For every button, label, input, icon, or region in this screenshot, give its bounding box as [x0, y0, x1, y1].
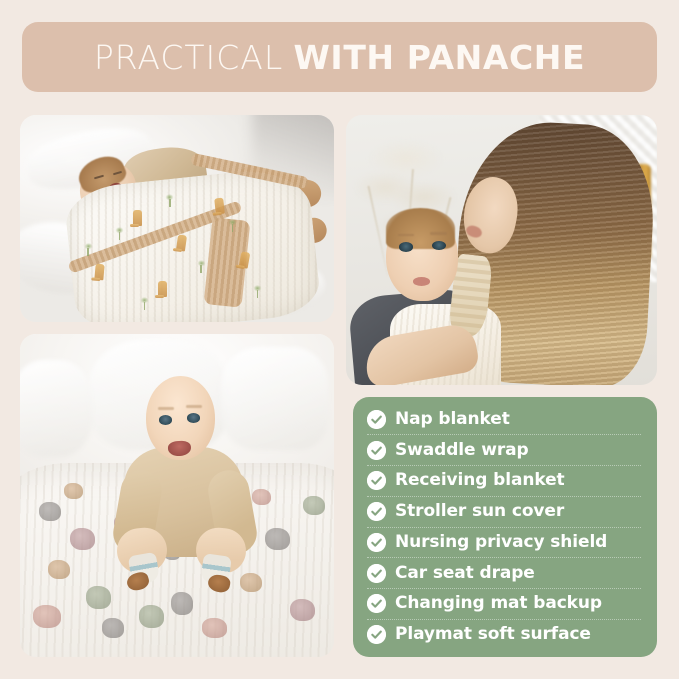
- feature-list-item-label: Car seat drape: [395, 565, 535, 582]
- check-circle-icon: [367, 410, 386, 429]
- mother-kissing-baby-image: [346, 115, 657, 385]
- feature-list-item-label: Nap blanket: [395, 411, 510, 428]
- feature-list-item: Nursing privacy shield: [367, 527, 643, 558]
- feature-list-item-label: Swaddle wrap: [395, 442, 529, 459]
- check-circle-icon: [367, 471, 386, 490]
- feature-list-item-label: Nursing privacy shield: [395, 534, 607, 551]
- feature-list-item-label: Changing mat backup: [395, 595, 602, 612]
- feature-list-item-label: Stroller sun cover: [395, 503, 564, 520]
- feature-list-item: Swaddle wrap: [367, 435, 643, 466]
- check-circle-icon: [367, 502, 386, 521]
- photo-card-baby-lying-in-swaddle: [20, 115, 334, 322]
- feature-list-item: Playmat soft surface: [367, 619, 643, 650]
- page-title-light: PRACTICAL: [94, 41, 283, 74]
- check-circle-icon: [367, 564, 386, 583]
- baby-lying-in-swaddle-image: [20, 115, 334, 322]
- feature-list-item: Changing mat backup: [367, 589, 643, 620]
- header-banner: PRACTICALWITH PANACHE: [22, 22, 657, 92]
- baby-sitting-on-blanket-image: [20, 334, 334, 657]
- check-circle-icon: [367, 594, 386, 613]
- feature-list-item: Stroller sun cover: [367, 496, 643, 527]
- feature-list-item: Receiving blanket: [367, 466, 643, 497]
- feature-list-item: Car seat drape: [367, 558, 643, 589]
- check-circle-icon: [367, 533, 386, 552]
- check-circle-icon: [367, 625, 386, 644]
- check-circle-icon: [367, 441, 386, 460]
- feature-list-panel: Nap blanket Swaddle wrap Receiving blank…: [353, 397, 657, 657]
- photo-card-mother-kissing-baby: [346, 115, 657, 385]
- page-title-bold: WITH PANACHE: [293, 41, 585, 74]
- photo-card-baby-sitting-on-blanket: [20, 334, 334, 657]
- product-feature-infographic: PRACTICALWITH PANACHE: [0, 0, 679, 679]
- feature-list-item: Nap blanket: [367, 404, 643, 435]
- feature-list-item-label: Receiving blanket: [395, 472, 565, 489]
- feature-list-item-label: Playmat soft surface: [395, 626, 591, 643]
- page-title: PRACTICALWITH PANACHE: [94, 41, 585, 74]
